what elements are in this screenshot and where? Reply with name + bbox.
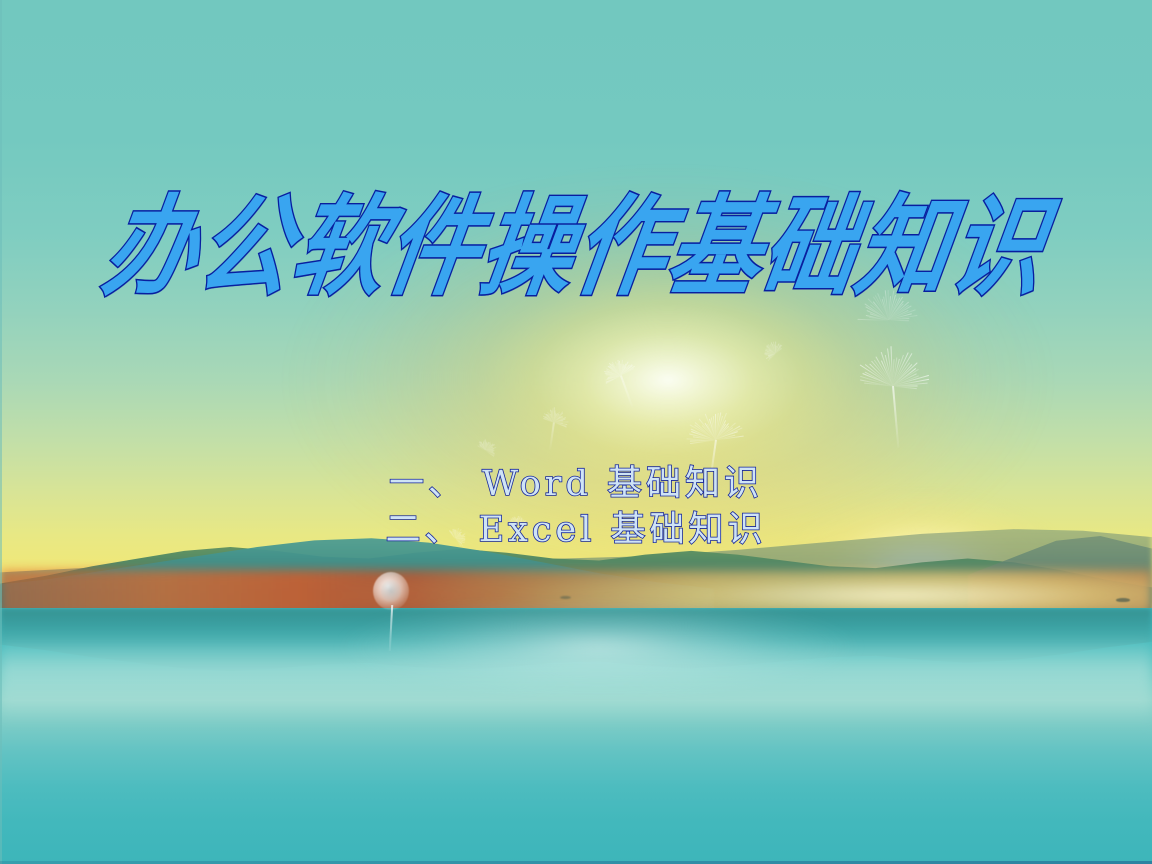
dandelion-seed-behind-title (846, 267, 932, 322)
boat-silhouette-small (560, 596, 571, 599)
slide-left-edge (0, 0, 2, 864)
water-mist (0, 635, 1152, 725)
dandelion-seed-large (840, 317, 950, 392)
dandelion-pappus (840, 317, 950, 392)
dandelion-pappus (846, 267, 932, 322)
boat-silhouette (1116, 598, 1130, 602)
dandelion-pappus (672, 387, 752, 445)
presentation-slide: 办公软件操作基础知识 一、 Word 基础知识 二、 Excel 基础知识 (0, 0, 1152, 864)
dandelion-seed-medium (672, 387, 752, 445)
dandelion-flower (373, 572, 409, 610)
